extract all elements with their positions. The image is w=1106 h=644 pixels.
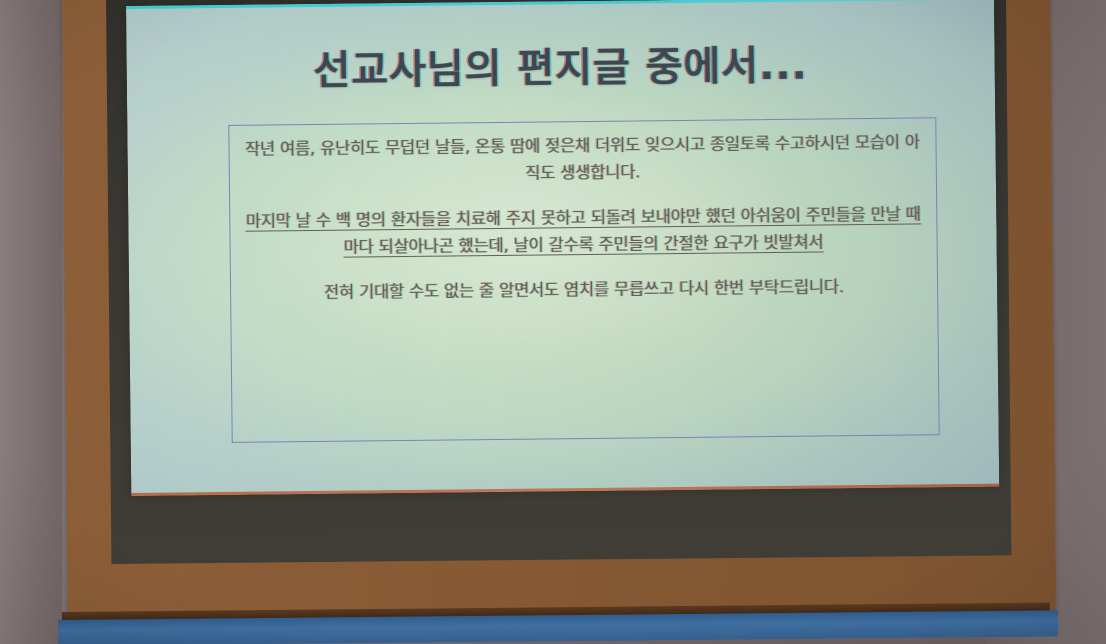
slide-paragraph-2: 마지막 날 수 백 명의 환자들을 치료해 주지 못하고 되돌려 보내야만 했던… <box>240 200 927 261</box>
slide-paragraph-1: 작년 여름, 유난히도 무덥던 날들, 온통 땀에 젖은채 더위도 잊으시고 종… <box>239 128 926 189</box>
slide-textbox-content: 작년 여름, 유난히도 무덥던 날들, 온통 땀에 젖은채 더위도 잊으시고 종… <box>239 128 927 306</box>
wall-left-panel <box>0 0 62 644</box>
slide-paragraph-3: 전혀 기대할 수도 없는 줄 알면서도 염치를 무릅쓰고 다시 한번 부탁드립니… <box>241 272 927 306</box>
slide-textbox: 작년 여름, 유난히도 무덥던 날들, 온통 땀에 젖은채 더위도 잊으시고 종… <box>228 117 939 443</box>
slide-title: 선교사님의 편지글 중에서... <box>126 31 995 98</box>
photo-scene: 선교사님의 편지글 중에서... 작년 여름, 유난히도 무덥던 날들, 온통 … <box>0 0 1106 644</box>
projected-slide: 선교사님의 편지글 중에서... 작년 여름, 유난히도 무덥던 날들, 온통 … <box>126 0 999 496</box>
